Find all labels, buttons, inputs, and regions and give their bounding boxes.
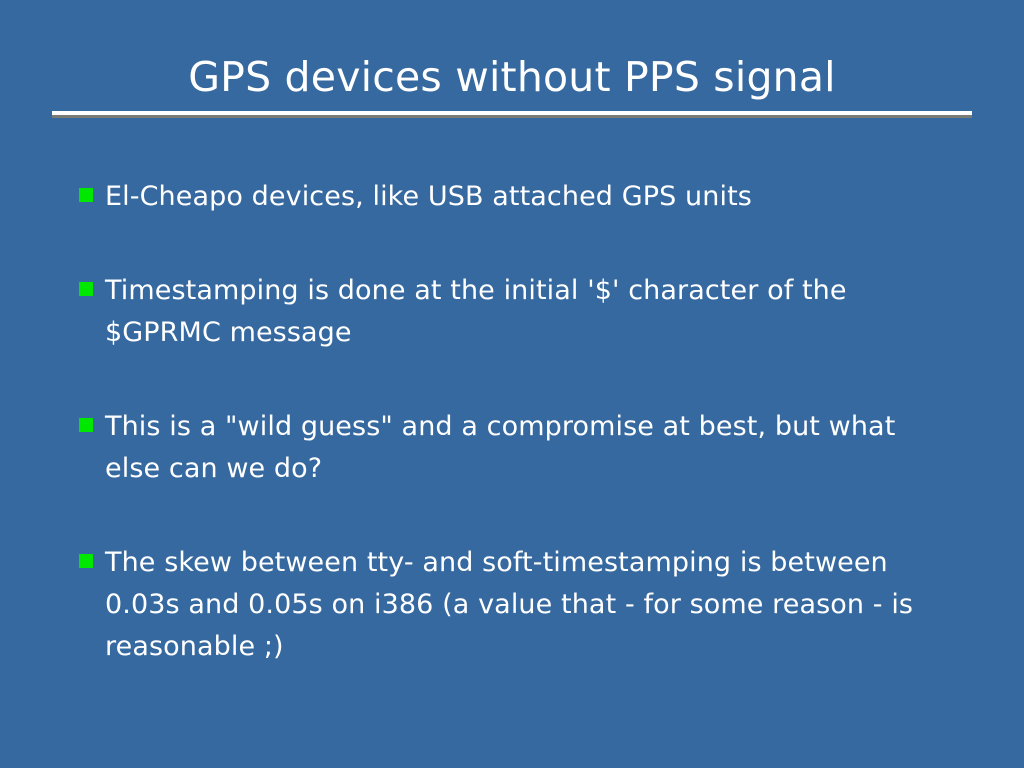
bullet-list: El-Cheapo devices, like USB attached GPS… xyxy=(79,176,939,668)
square-bullet-icon xyxy=(79,418,93,432)
page-title: GPS devices without PPS signal xyxy=(52,52,972,102)
list-item-label: This is a "wild guess" and a compromise … xyxy=(105,406,925,490)
divider-shadow xyxy=(52,115,972,118)
presentation-slide: GPS devices without PPS signal El-Cheapo… xyxy=(0,0,1024,768)
title-divider xyxy=(52,111,972,118)
list-item: This is a "wild guess" and a compromise … xyxy=(79,406,939,490)
list-item: The skew between tty- and soft-timestamp… xyxy=(79,542,939,668)
list-item-label: The skew between tty- and soft-timestamp… xyxy=(105,542,925,668)
list-item-label: El-Cheapo devices, like USB attached GPS… xyxy=(105,176,925,218)
square-bullet-icon xyxy=(79,188,93,202)
list-item-label: Timestamping is done at the initial '$' … xyxy=(105,270,925,354)
list-item: Timestamping is done at the initial '$' … xyxy=(79,270,939,354)
square-bullet-icon xyxy=(79,282,93,296)
list-item: El-Cheapo devices, like USB attached GPS… xyxy=(79,176,939,218)
square-bullet-icon xyxy=(79,554,93,568)
